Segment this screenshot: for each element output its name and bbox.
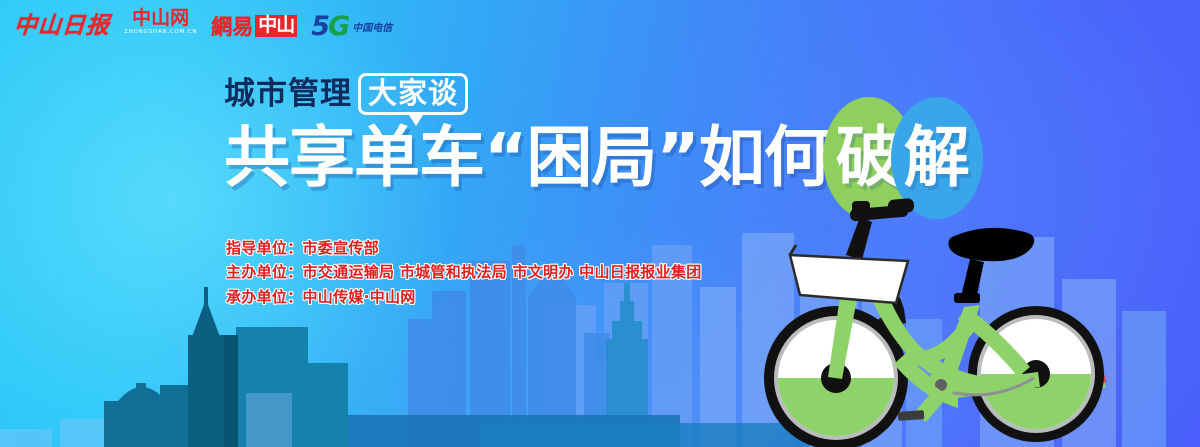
logo-zhongshan-net-text: 中山网: [132, 9, 189, 28]
credit-line-guidance: 指导单位：市委宣传部: [226, 240, 702, 257]
logo-zhongshan-daily[interactable]: 中山日报: [13, 9, 111, 43]
campaign-banner: 中山日报 中山网 ZHONGSHAN.COM.CN 網易 中山 5G 中国电信 …: [0, 0, 1200, 447]
kicker-lead-text: 城市管理: [224, 79, 352, 110]
shared-bicycle-illustration: [728, 197, 1200, 447]
partner-logo-row: 中山日报 中山网 ZHONGSHAN.COM.CN 網易 中山 5G 中国电信: [14, 8, 392, 44]
credits-block: 指导单位：市委宣传部 主办单位：市交通运输局 市城管和执法局 市文明办 中山日报…: [226, 240, 702, 306]
logo-zhongshan-net[interactable]: 中山网 ZHONGSHAN.COM.CN: [124, 9, 197, 43]
credit-line-organizers: 主办单位：市交通运输局 市城管和执法局 市文明办 中山日报报业集团: [226, 264, 702, 281]
kicker-row: 城市管理 大家谈: [224, 72, 468, 116]
bicycle-saddle: [948, 228, 1034, 303]
speech-bubble-badge: 大家谈: [358, 73, 468, 114]
logo-netease-zhongshan-badge: 中山: [255, 15, 297, 37]
headline: 共享单车“困局”如何 破 解: [224, 116, 983, 200]
headline-highlight-blue-text: 解: [904, 125, 970, 191]
logo-china-telecom-text: 中国电信: [352, 19, 392, 34]
headline-main-text: 共享单车“困局”如何: [224, 125, 829, 191]
logo-zhongshan-net-subtext: ZHONGSHAN.COM.CN: [124, 30, 197, 36]
credit-line-hosts: 承办单位：中山传媒·中山网: [226, 289, 702, 306]
logo-netease-zhongshan[interactable]: 網易 中山: [211, 9, 297, 43]
handlebar: [846, 198, 915, 260]
five-g-icon: 5G: [311, 13, 348, 40]
logo-china-telecom-5g[interactable]: 5G 中国电信: [311, 9, 392, 43]
logo-netease-text: 網易: [211, 11, 253, 41]
